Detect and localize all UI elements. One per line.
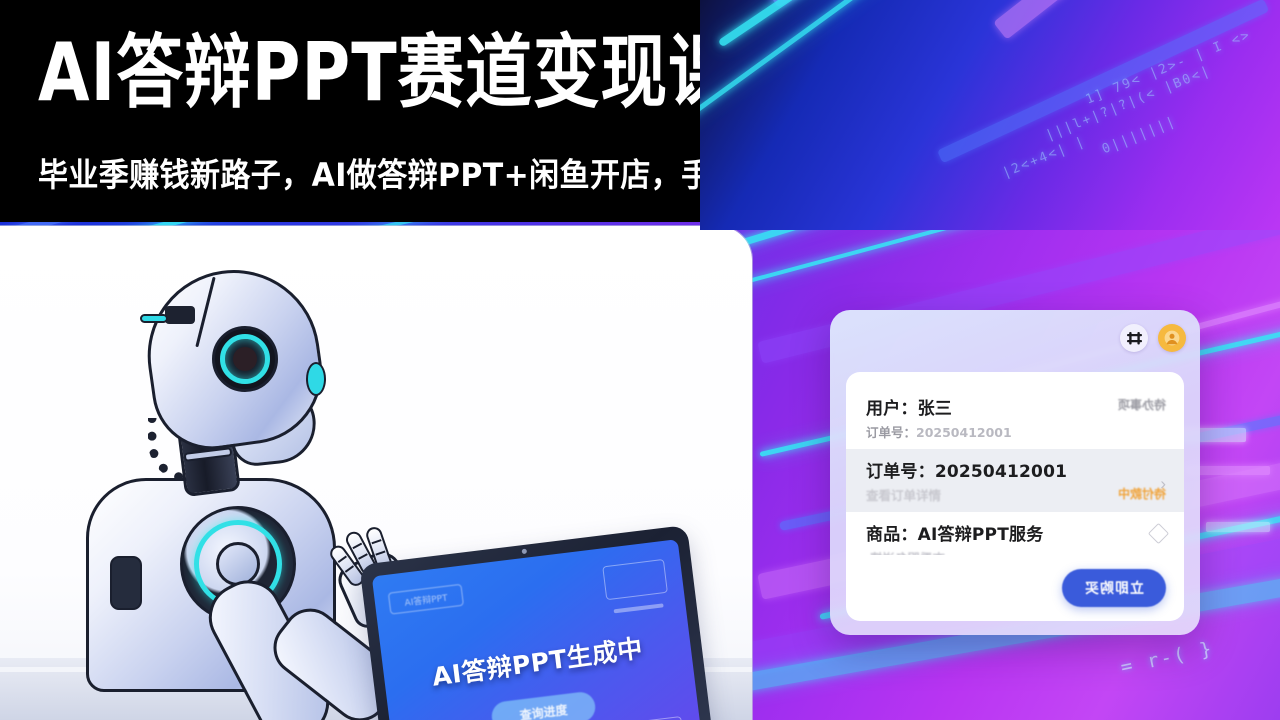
- order-rows: 用户：张三 订单号：20250412001 待办事项 订单号：202504120…: [846, 372, 1184, 585]
- screen-chip-tr: [602, 559, 668, 600]
- order-row-user-sub: 订单号：20250412001: [866, 422, 1164, 441]
- screen-line-tr: [614, 603, 664, 613]
- code-texture-3: 1] 79< |2>- | I <>: [1084, 27, 1254, 107]
- chevron-right-icon[interactable]: ›: [1160, 474, 1166, 494]
- order-row-orderno-main: 订单号：20250412001: [866, 457, 1164, 482]
- code-texture-6: |2<+4<| |: [1000, 134, 1088, 181]
- order-row-orderno[interactable]: 订单号：20250412001 查看订单详情 待付款中 ›: [846, 449, 1184, 512]
- tech-background-top: 1] 79< |2>- | I <> |||l+|?|?|(< |B0<| 0|…: [700, 0, 1280, 230]
- screen-title: AI答辩PPT生成中: [383, 622, 692, 701]
- robot-antenna: [140, 314, 168, 323]
- robot-ear-light: [306, 362, 326, 396]
- buy-now-button[interactable]: 立即购买: [1062, 569, 1166, 607]
- card-footer: 立即购买: [846, 555, 1184, 621]
- robot-shoulder-core: [216, 542, 260, 586]
- screen-badge: AI答辩PPT: [388, 584, 464, 615]
- order-row-user[interactable]: 用户：张三 订单号：20250412001 待办事项: [846, 386, 1184, 449]
- order-row-user-right: 待办事项: [1118, 396, 1166, 413]
- layout-grid-icon[interactable]: [1120, 324, 1148, 352]
- desktop-monitor: AI答辩PPT AI答辩PPT生成中 查询进度: [359, 525, 718, 720]
- robot-chest-panel: [110, 556, 142, 610]
- screen-progress-button[interactable]: 查询进度: [490, 690, 597, 720]
- order-row-product-main: 商品：AI答辩PPT服务: [866, 520, 1164, 545]
- code-texture-5: 0|||||||: [1100, 114, 1179, 157]
- robot-brow-panel: [165, 306, 195, 324]
- user-avatar-icon[interactable]: [1158, 324, 1186, 352]
- order-status-badge: 待付款中: [1118, 485, 1166, 502]
- robot-eye-pupil: [233, 347, 257, 371]
- screen-chip-br-1: [612, 716, 684, 720]
- order-detail-card: 用户：张三 订单号：20250412001 待办事项 订单号：202504120…: [830, 310, 1200, 635]
- robot-illustration: [44, 270, 404, 700]
- illustration-panel: AI答辩PPT AI答辩PPT生成中 查询进度: [0, 226, 752, 720]
- monitor-webcam: [521, 549, 527, 555]
- code-texture-1: = r-( }: [1119, 637, 1216, 678]
- poster-canvas: = r-( } P. W|T| 1] 79< |2>- | I <> |||l+…: [0, 0, 1280, 720]
- card-toolbar: [1120, 324, 1186, 352]
